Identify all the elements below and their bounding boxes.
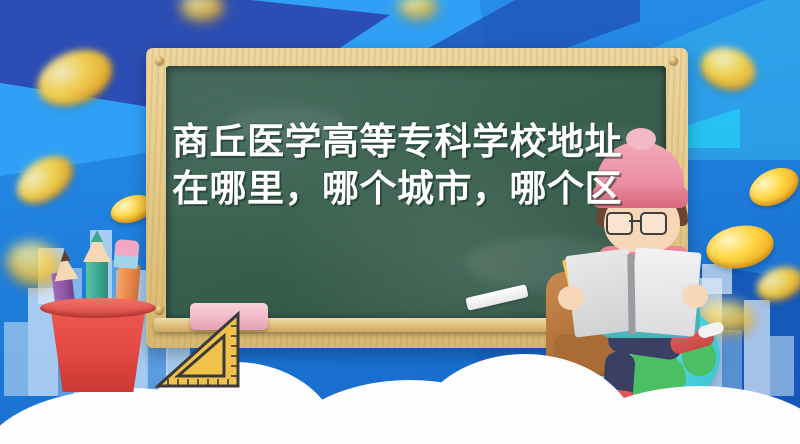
frame-screw-icon <box>155 56 164 65</box>
purple-pencil-lead <box>59 249 70 261</box>
glasses-lens-left <box>606 212 633 235</box>
glasses-bridge <box>629 220 640 222</box>
headline-text: 商丘医学高等专科学校地址 在哪里，哪个城市，哪个区 <box>172 118 664 213</box>
pencil-cup <box>46 306 150 392</box>
gold-coin <box>180 0 224 22</box>
hand-right <box>682 284 708 308</box>
desk-supplies <box>22 222 172 392</box>
pencil-cup-rim <box>40 298 156 318</box>
chalk-stick <box>465 284 528 311</box>
headline-line-1: 商丘医学高等专科学校地址 <box>172 118 664 165</box>
open-book-spine <box>627 254 635 334</box>
teal-pencil-lead <box>91 230 103 242</box>
hand-left <box>558 286 584 310</box>
orange-pencil-eraser <box>114 239 139 257</box>
frame-screw-icon <box>669 56 678 65</box>
banner-image: 商丘医学高等专科学校地址 在哪里，哪个城市，哪个区 <box>0 0 800 444</box>
headline-line-2: 在哪里，哪个城市，哪个区 <box>172 165 664 212</box>
gold-coin <box>398 0 438 20</box>
triangle-ruler <box>152 310 246 390</box>
glasses-lens-right <box>640 212 667 235</box>
